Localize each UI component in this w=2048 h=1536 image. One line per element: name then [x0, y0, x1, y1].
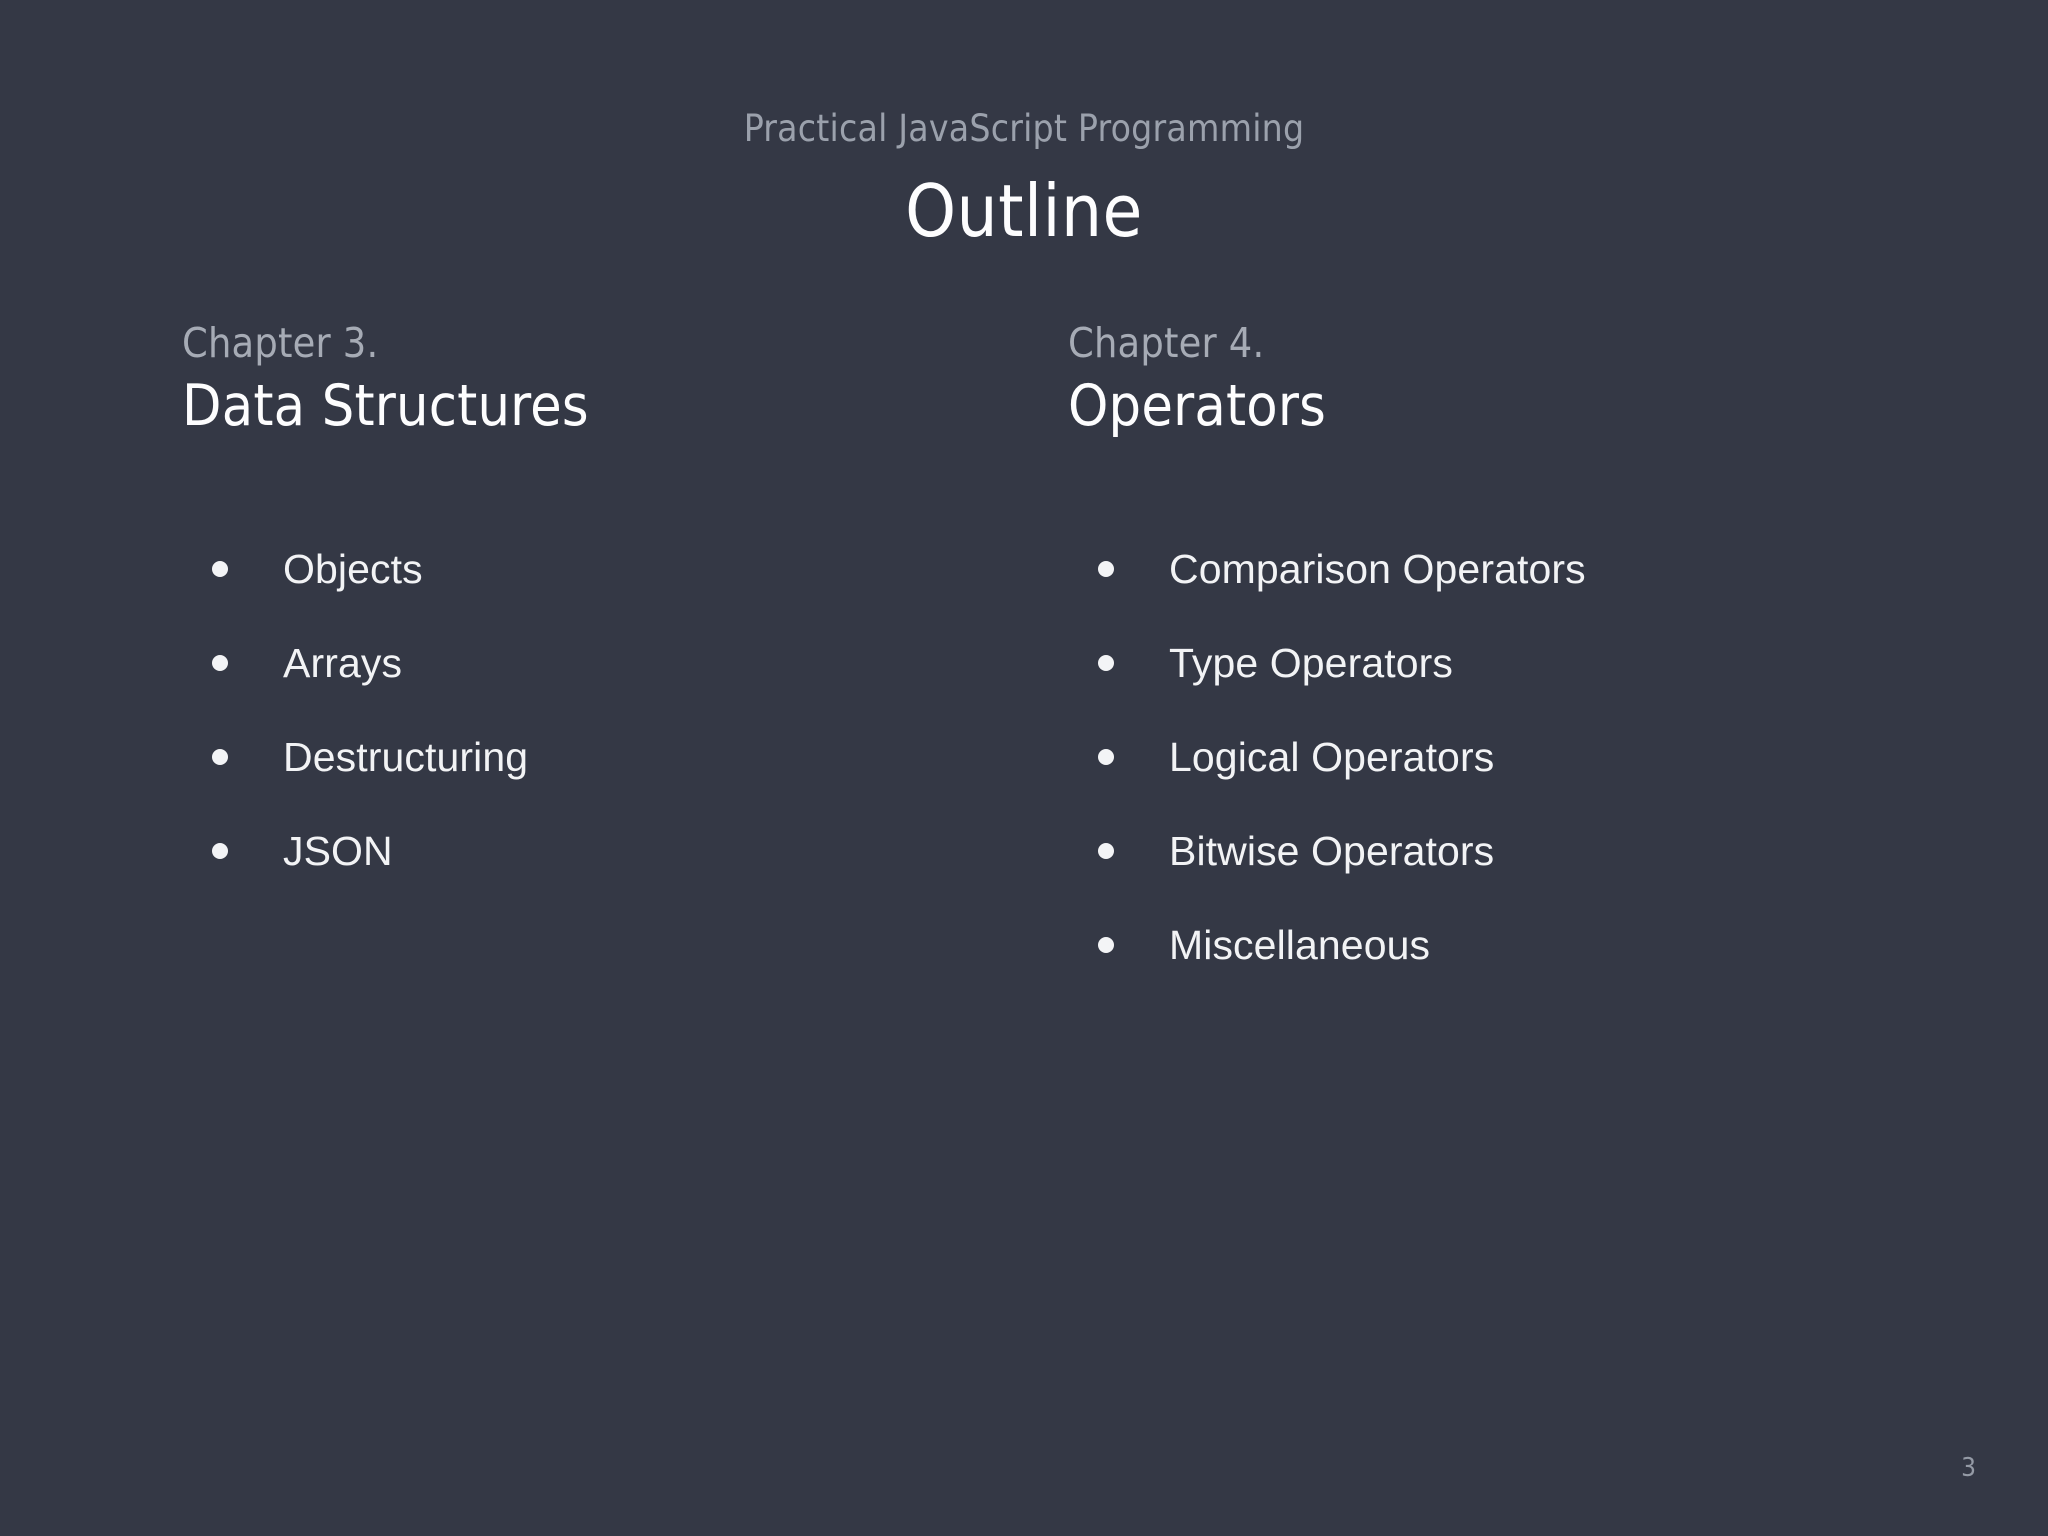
list-item-label: Destructuring	[283, 737, 528, 778]
list-item: Logical Operators	[1068, 710, 1928, 804]
bullet-disc-icon	[1098, 937, 1114, 953]
bullet-disc-icon	[1098, 843, 1114, 859]
bullet-disc-icon	[212, 561, 228, 577]
list-item: Comparison Operators	[1068, 522, 1928, 616]
list-item: Objects	[182, 522, 1042, 616]
list-item-label: Type Operators	[1169, 643, 1453, 684]
outline-columns: Chapter 3. Data Structures Objects Array…	[0, 322, 2048, 1222]
bullet-disc-icon	[212, 749, 228, 765]
bullet-disc-icon	[1098, 655, 1114, 671]
bullet-disc-icon	[212, 843, 228, 859]
list-item: JSON	[182, 804, 1042, 898]
list-item-label: Bitwise Operators	[1169, 831, 1494, 872]
outline-column-chapter-3: Chapter 3. Data Structures Objects Array…	[182, 322, 1042, 898]
list-item: Miscellaneous	[1068, 898, 1928, 992]
page-number: 3	[1961, 1455, 1976, 1481]
list-item-label: Objects	[283, 549, 423, 590]
chapter-label: Chapter 4.	[1068, 322, 1928, 365]
list-item-label: Arrays	[283, 643, 402, 684]
slide-header: Practical JavaScript Programming Outline	[0, 0, 2048, 247]
presentation-slide: Practical JavaScript Programming Outline…	[0, 0, 2048, 1536]
deck-subtitle: Practical JavaScript Programming	[0, 110, 2048, 147]
chapter-title: Data Structures	[182, 377, 1042, 437]
list-item: Type Operators	[1068, 616, 1928, 710]
topic-list: Comparison Operators Type Operators Logi…	[1068, 522, 1928, 992]
chapter-label: Chapter 3.	[182, 322, 1042, 365]
list-item-label: JSON	[283, 831, 393, 872]
bullet-disc-icon	[1098, 749, 1114, 765]
bullet-disc-icon	[212, 655, 228, 671]
topic-list: Objects Arrays Destructuring JSON	[182, 522, 1042, 898]
list-item-label: Logical Operators	[1169, 737, 1494, 778]
list-item: Arrays	[182, 616, 1042, 710]
list-item-label: Miscellaneous	[1169, 925, 1430, 966]
bullet-disc-icon	[1098, 561, 1114, 577]
list-item-label: Comparison Operators	[1169, 549, 1586, 590]
page-title: Outline	[0, 175, 2048, 247]
list-item: Destructuring	[182, 710, 1042, 804]
outline-column-chapter-4: Chapter 4. Operators Comparison Operator…	[1068, 322, 1928, 992]
list-item: Bitwise Operators	[1068, 804, 1928, 898]
chapter-title: Operators	[1068, 377, 1928, 437]
